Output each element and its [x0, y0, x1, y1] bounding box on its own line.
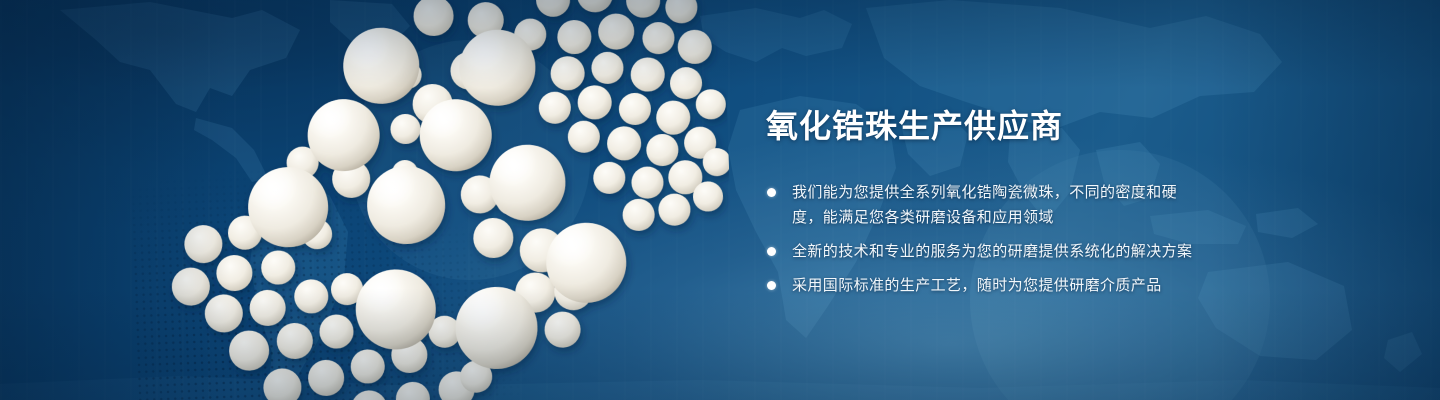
list-item-label: 采用国际标准的生产工艺，随时为您提供研磨介质产品: [792, 277, 1162, 294]
bullet-dot-icon: [767, 247, 776, 256]
banner-copy: 氧化锆珠生产供应商 我们能为您提供全系列氧化锆陶瓷微珠，不同的密度和硬度，能满足…: [766, 108, 1206, 298]
list-item: 采用国际标准的生产工艺，随时为您提供研磨介质产品: [766, 273, 1206, 298]
bullet-dot-icon: [767, 281, 776, 290]
list-item: 我们能为您提供全系列氧化锆陶瓷微珠，不同的密度和硬度，能满足您各类研磨设备和应用…: [766, 180, 1206, 230]
page-title: 氧化锆珠生产供应商: [766, 108, 1206, 146]
list-item-label: 我们能为您提供全系列氧化锆陶瓷微珠，不同的密度和硬度，能满足您各类研磨设备和应用…: [792, 184, 1177, 226]
list-item-label: 全新的技术和专业的服务为您的研磨提供系统化的解决方案: [792, 243, 1192, 260]
bullet-dot-icon: [767, 188, 776, 197]
feature-list: 我们能为您提供全系列氧化锆陶瓷微珠，不同的密度和硬度，能满足您各类研磨设备和应用…: [766, 180, 1206, 298]
background-vignette: [0, 0, 1440, 400]
list-item: 全新的技术和专业的服务为您的研磨提供系统化的解决方案: [766, 239, 1206, 264]
hero-banner: 氧化锆珠生产供应商 我们能为您提供全系列氧化锆陶瓷微珠，不同的密度和硬度，能满足…: [0, 0, 1440, 400]
